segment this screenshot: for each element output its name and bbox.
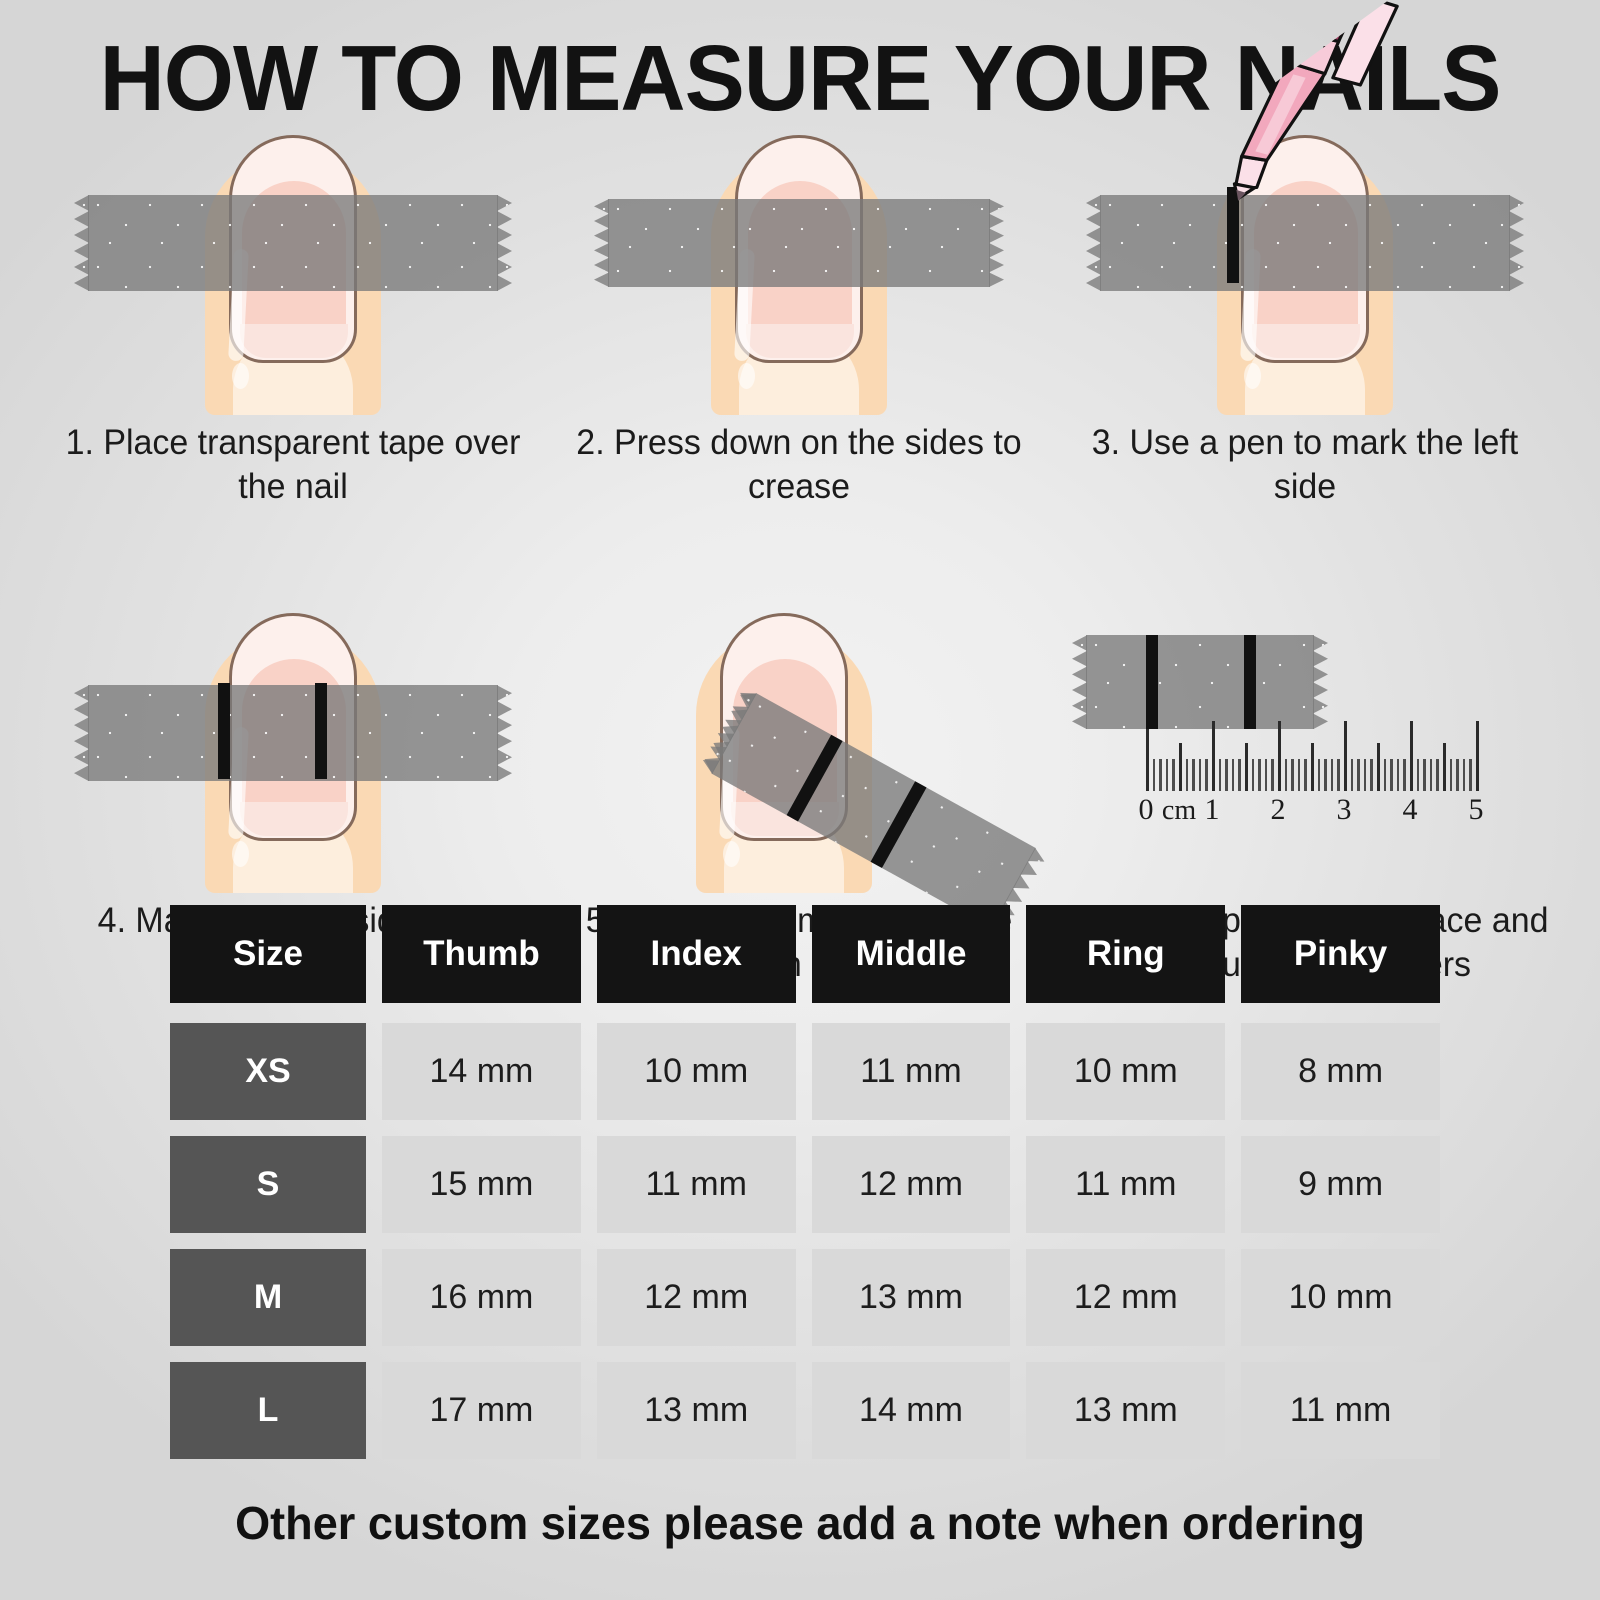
ruler-tick: [1331, 759, 1334, 791]
ruler-tick: [1291, 759, 1294, 791]
step-1-illustration: [40, 125, 546, 415]
ruler-tick: [1298, 759, 1301, 791]
ruler-tick: [1456, 759, 1459, 791]
table-cell: 11 mm: [1026, 1136, 1225, 1233]
ruler-tick: [1304, 759, 1307, 791]
table-row: XS14 mm10 mm11 mm10 mm8 mm: [170, 1023, 1440, 1120]
step-3-caption: 3. Use a pen to mark the left side: [1060, 421, 1551, 509]
table-header-middle: Middle: [812, 905, 1011, 1003]
size-label: L: [170, 1362, 366, 1459]
ruler-tick: [1417, 759, 1420, 791]
ruler-tick: [1443, 743, 1446, 791]
nail-gloss-dot: [232, 841, 249, 867]
ruler-tick: [1370, 759, 1373, 791]
nail-tip: [240, 802, 348, 836]
ruler-tick: [1153, 759, 1156, 791]
table-row: S15 mm11 mm12 mm11 mm9 mm: [170, 1136, 1440, 1233]
ruler-label: 3: [1337, 793, 1352, 827]
size-label: XS: [170, 1023, 366, 1120]
step-2: 2. Press down on the sides to crease: [546, 125, 1052, 509]
ruler: 012345cm: [1146, 729, 1494, 813]
tape-mark-right: [1244, 635, 1256, 729]
ruler-tick: [1146, 721, 1149, 791]
table-row: L17 mm13 mm14 mm13 mm11 mm: [170, 1362, 1440, 1459]
step-5-illustration: [546, 601, 1052, 893]
ruler-label: 0: [1139, 793, 1154, 827]
size-label: S: [170, 1136, 366, 1233]
ruler-tick: [1265, 759, 1268, 791]
table-cell: 12 mm: [1026, 1249, 1225, 1346]
table-cell: 12 mm: [812, 1136, 1011, 1233]
nail-tip: [746, 324, 854, 358]
transparent-tape: [88, 195, 498, 291]
table-cell: 8 mm: [1241, 1023, 1440, 1120]
ruler-tick: [1186, 759, 1189, 791]
nail-tip: [240, 324, 348, 358]
nail-tip: [1252, 324, 1360, 358]
ruler-tick: [1436, 759, 1439, 791]
table-cell: 13 mm: [597, 1362, 796, 1459]
ruler-tick: [1351, 759, 1354, 791]
table-header-index: Index: [597, 905, 796, 1003]
creased-tape: [608, 199, 990, 287]
ruler-tick: [1192, 759, 1195, 791]
transparent-tape: [1100, 195, 1510, 291]
ruler-measurement-graphic: 012345cm: [1072, 621, 1542, 871]
ruler-tick: [1212, 721, 1215, 791]
ruler-tick: [1285, 759, 1288, 791]
left-pen-mark: [218, 683, 230, 779]
ruler-tick: [1377, 743, 1380, 791]
ruler-tick: [1172, 759, 1175, 791]
table-header-ring: Ring: [1026, 905, 1225, 1003]
step-1-caption: 1. Place transparent tape over the nail: [48, 421, 539, 509]
tape-mark-left: [1146, 635, 1158, 729]
ruler-tick: [1364, 759, 1367, 791]
ruler-tick: [1278, 721, 1281, 791]
ruler-tick: [1403, 759, 1406, 791]
step-3: 3. Use a pen to mark the left side: [1052, 125, 1558, 509]
transparent-tape: [88, 685, 498, 781]
step-1: 1. Place transparent tape over the nail: [40, 125, 546, 509]
table-cell: 9 mm: [1241, 1136, 1440, 1233]
table-row: M16 mm12 mm13 mm12 mm10 mm: [170, 1249, 1440, 1346]
nail-gloss-dot: [738, 363, 755, 389]
ruler-tick: [1324, 759, 1327, 791]
ruler-tick: [1423, 759, 1426, 791]
ruler-label: 2: [1271, 793, 1286, 827]
ruler-tick: [1397, 759, 1400, 791]
ruler-tick: [1384, 759, 1387, 791]
ruler-tick: [1232, 759, 1235, 791]
table-header-size: Size: [170, 905, 366, 1003]
nail-gloss-dot: [232, 363, 249, 389]
table-header-thumb: Thumb: [382, 905, 581, 1003]
infographic-root: HOW TO MEASURE YOUR NAILS: [0, 0, 1600, 1600]
ruler-label: 5: [1469, 793, 1484, 827]
size-label: M: [170, 1249, 366, 1346]
ruler-tick: [1179, 743, 1182, 791]
table-header-pinky: Pinky: [1241, 905, 1440, 1003]
table-cell: 10 mm: [1026, 1023, 1225, 1120]
ruler-tick: [1430, 759, 1433, 791]
step-2-caption: 2. Press down on the sides to crease: [554, 421, 1045, 509]
ruler-tick: [1252, 759, 1255, 791]
ruler-tick: [1225, 759, 1228, 791]
ruler-tick: [1463, 759, 1466, 791]
ruler-tick: [1166, 759, 1169, 791]
table-cell: 11 mm: [1241, 1362, 1440, 1459]
measured-tape: [1086, 635, 1314, 729]
ruler-tick: [1337, 759, 1340, 791]
step-4-illustration: [40, 601, 546, 893]
steps-row-1: 1. Place transparent tape over the nail: [40, 125, 1560, 509]
table-cell: 15 mm: [382, 1136, 581, 1233]
table-cell: 13 mm: [812, 1249, 1011, 1346]
table-header-row: SizeThumbIndexMiddleRingPinky: [170, 905, 1440, 1003]
nail-gloss-dot: [1244, 363, 1261, 389]
step-3-illustration: [1052, 125, 1558, 415]
ruler-tick: [1469, 759, 1472, 791]
ruler-tick: [1476, 721, 1479, 791]
table-cell: 12 mm: [597, 1249, 796, 1346]
table-cell: 11 mm: [597, 1136, 796, 1233]
ruler-tick: [1344, 721, 1347, 791]
ruler-tick: [1410, 721, 1413, 791]
table-cell: 14 mm: [812, 1362, 1011, 1459]
ruler-unit-label: cm: [1162, 795, 1196, 827]
ruler-tick: [1357, 759, 1360, 791]
table-cell: 17 mm: [382, 1362, 581, 1459]
table-cell: 16 mm: [382, 1249, 581, 1346]
table-cell: 11 mm: [812, 1023, 1011, 1120]
ruler-tick: [1258, 759, 1261, 791]
ruler-label: 1: [1205, 793, 1220, 827]
step-2-illustration: [546, 125, 1052, 415]
table-cell: 10 mm: [597, 1023, 796, 1120]
tape-mark-right: [871, 781, 927, 868]
ruler-tick: [1199, 759, 1202, 791]
ruler-tick: [1311, 743, 1314, 791]
ruler-tick: [1205, 759, 1208, 791]
ruler-tick: [1390, 759, 1393, 791]
ruler-tick: [1318, 759, 1321, 791]
ruler-tick: [1450, 759, 1453, 791]
tape-mark-left: [787, 735, 843, 822]
ruler-label: 4: [1403, 793, 1418, 827]
table-cell: 10 mm: [1241, 1249, 1440, 1346]
ruler-tick: [1238, 759, 1241, 791]
table-cell: 14 mm: [382, 1023, 581, 1120]
step-6-illustration: 012345cm: [1052, 601, 1558, 893]
size-chart-table: SizeThumbIndexMiddleRingPinkyXS14 mm10 m…: [170, 905, 1440, 1475]
ruler-tick: [1219, 759, 1222, 791]
footer-note: Other custom sizes please add a note whe…: [16, 1496, 1584, 1550]
right-pen-mark: [315, 683, 327, 779]
ruler-tick: [1271, 759, 1274, 791]
ruler-tick: [1245, 743, 1248, 791]
nail-gloss-dot: [723, 841, 740, 867]
table-cell: 13 mm: [1026, 1362, 1225, 1459]
ruler-tick: [1159, 759, 1162, 791]
steps-section: 1. Place transparent tape over the nail: [40, 125, 1560, 987]
